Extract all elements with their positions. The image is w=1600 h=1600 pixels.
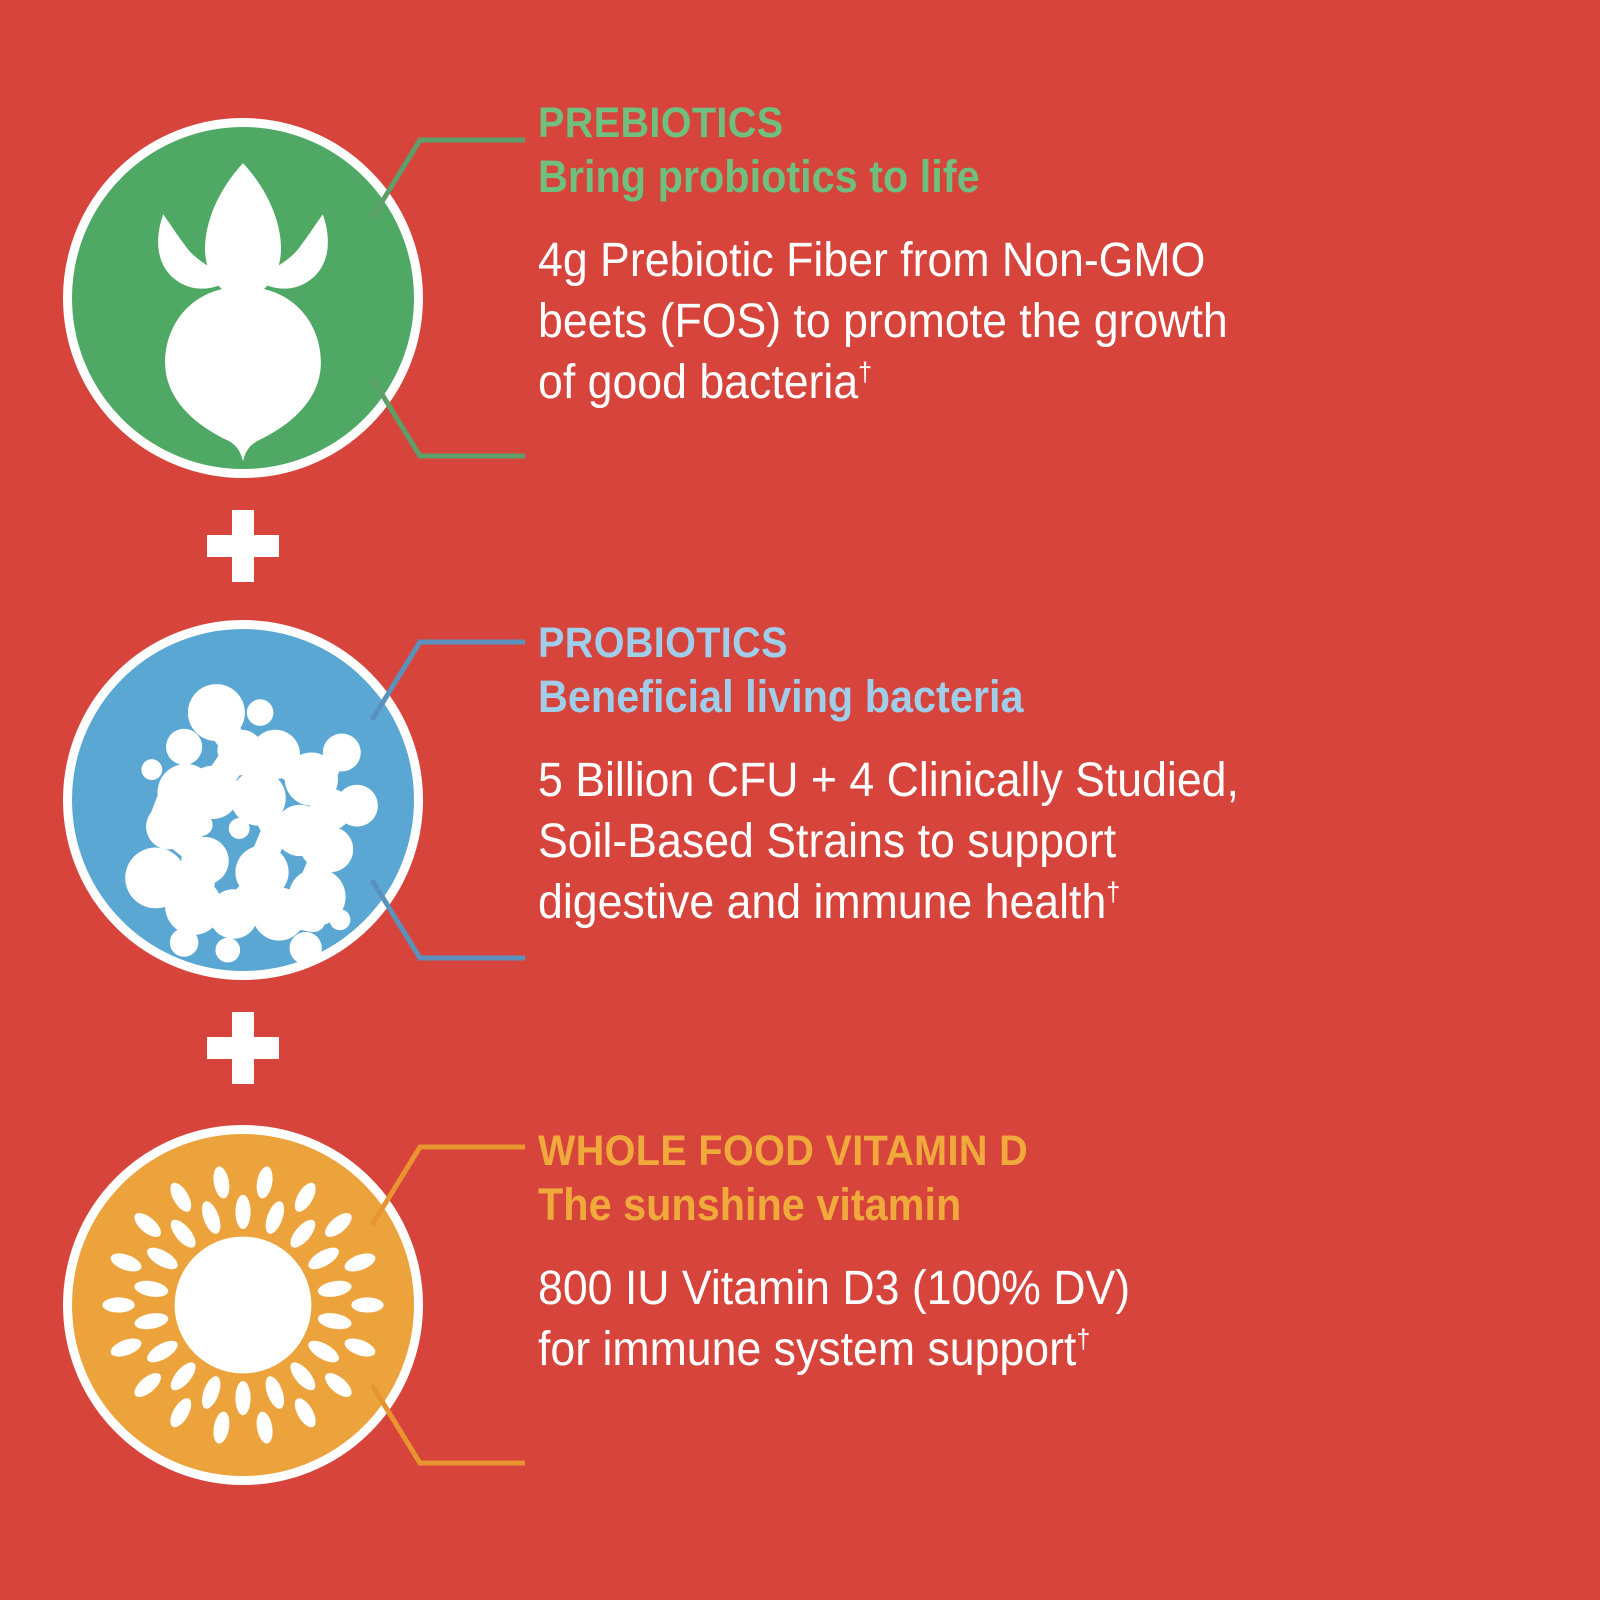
prebiotics-text-block: PREBIOTICS Bring probiotics to life 4g P… — [538, 100, 1468, 414]
sun-icon — [72, 1134, 414, 1476]
prebiotics-footnote-marker: † — [858, 357, 872, 387]
probiotics-icon-badge — [63, 620, 423, 980]
probiotics-body: 5 Billion CFU + 4 Clinically Studied, So… — [538, 750, 1403, 934]
probiotics-tagline: Beneficial living bacteria — [538, 670, 1394, 723]
vitamin-d-body: 800 IU Vitamin D3 (100% DV) for immune s… — [538, 1258, 1403, 1381]
bacteria-cluster-icon — [72, 629, 414, 971]
vitamin-d-text-block: WHOLE FOOD VITAMIN D The sunshine vitami… — [538, 1128, 1468, 1380]
infographic-stage: PREBIOTICS Bring probiotics to life 4g P… — [0, 0, 1600, 1600]
prebiotics-tagline: Bring probiotics to life — [538, 150, 1394, 203]
probiotics-footnote-marker: † — [1106, 877, 1120, 907]
vitamin-d-connector-line — [370, 1125, 540, 1485]
probiotics-connector-line — [370, 620, 540, 980]
prebiotics-body-line-3: of good bacteria — [538, 356, 858, 409]
vitamin-d-kicker: WHOLE FOOD VITAMIN D — [538, 1128, 1394, 1174]
plus-separator-2 — [207, 1012, 279, 1084]
beet-sprout-icon — [72, 127, 414, 469]
prebiotics-connector-line — [370, 118, 540, 478]
vitamin-d-footnote-marker: † — [1076, 1324, 1090, 1354]
prebiotics-icon-badge — [63, 118, 423, 478]
probiotics-text-block: PROBIOTICS Beneficial living bacteria 5 … — [538, 620, 1468, 934]
probiotics-circle — [63, 620, 423, 980]
probiotics-body-line-1: 5 Billion CFU + 4 Clinically Studied, — [538, 754, 1239, 807]
probiotics-kicker: PROBIOTICS — [538, 620, 1394, 666]
vitamin-d-icon-badge — [63, 1125, 423, 1485]
plus-separator-1 — [207, 510, 279, 582]
plus-vertical-bar — [232, 510, 254, 582]
probiotics-body-line-3: digestive and immune health — [538, 876, 1106, 929]
vitamin-d-circle — [63, 1125, 423, 1485]
prebiotics-circle — [63, 118, 423, 478]
vitamin-d-body-line-1: 800 IU Vitamin D3 (100% DV) — [538, 1262, 1130, 1315]
vitamin-d-body-line-2: for immune system support — [538, 1323, 1076, 1376]
vitamin-d-tagline: The sunshine vitamin — [538, 1178, 1394, 1231]
probiotics-body-line-2: Soil-Based Strains to support — [538, 815, 1116, 868]
prebiotics-body: 4g Prebiotic Fiber from Non-GMO beets (F… — [538, 230, 1403, 414]
plus-vertical-bar — [232, 1012, 254, 1084]
prebiotics-body-line-1: 4g Prebiotic Fiber from Non-GMO — [538, 234, 1205, 287]
prebiotics-kicker: PREBIOTICS — [538, 100, 1394, 146]
prebiotics-body-line-2: beets (FOS) to promote the growth — [538, 295, 1228, 348]
